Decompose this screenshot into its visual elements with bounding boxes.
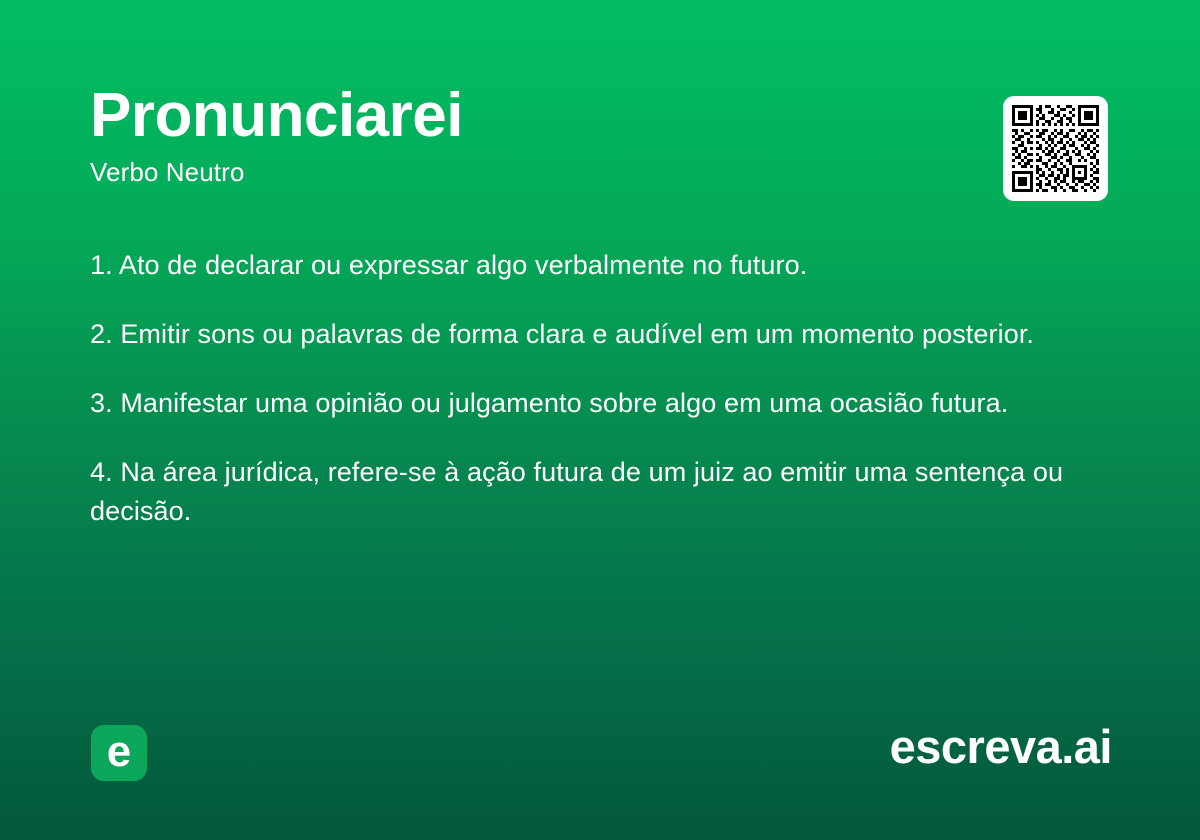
escreva-logo-icon: e: [91, 725, 147, 781]
logo-letter: e: [91, 730, 147, 774]
definition-item: 1. Ato de declarar ou expressar algo ver…: [90, 246, 1085, 285]
definition-item: 2. Emitir sons ou palavras de forma clar…: [90, 315, 1085, 354]
brand-wordmark: escreva.ai: [890, 723, 1112, 770]
definition-item: 3. Manifestar uma opinião ou julgamento …: [90, 384, 1085, 423]
definition-item: 4. Na área jurídica, refere-se à ação fu…: [90, 453, 1085, 531]
qr-code-icon: [1012, 105, 1099, 192]
word-class-label: Verbo Neutro: [90, 157, 970, 188]
definition-card: Pronunciarei Verbo Neutro: [0, 0, 1200, 840]
qr-code[interactable]: [1003, 96, 1108, 201]
page-title: Pronunciarei: [90, 84, 970, 147]
definition-list: 1. Ato de declarar ou expressar algo ver…: [90, 246, 1085, 531]
card-header: Pronunciarei Verbo Neutro: [90, 84, 970, 188]
